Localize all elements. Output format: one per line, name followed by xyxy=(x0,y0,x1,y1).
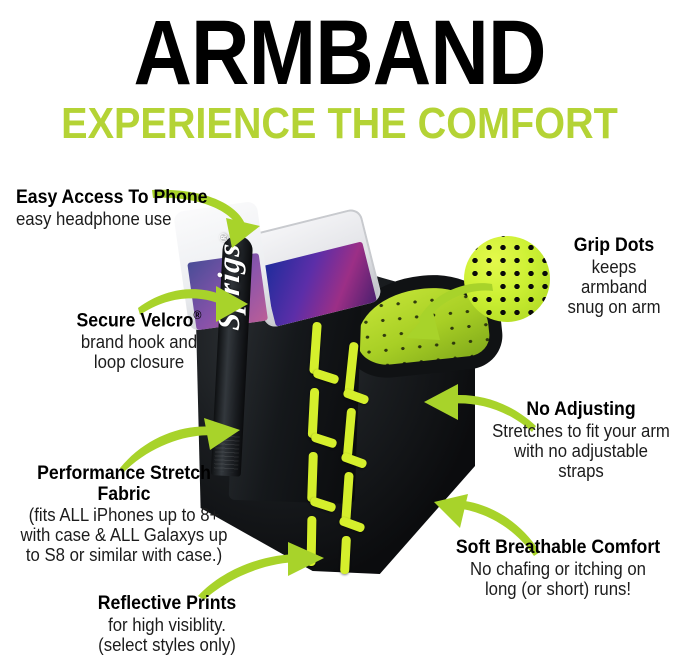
callout-body-line: with case & ALL Galaxys up xyxy=(9,525,240,545)
callout-no-adjusting: No Adjusting Stretches to fit your arm w… xyxy=(484,400,678,481)
page-subtitle: EXPERIENCE THE COMFORT xyxy=(34,102,645,146)
callout-body-line: loop closure xyxy=(56,352,222,372)
registered-trademark-icon: ® xyxy=(193,309,201,322)
registered-trademark-icon: ® xyxy=(217,231,231,243)
page-title: ARMBAND xyxy=(41,0,639,98)
callout-body-line: (fits ALL iPhones up to 8+ xyxy=(9,505,240,525)
callout-body-line: brand hook and xyxy=(56,332,222,352)
callout-body-line: to S8 or similar with case.) xyxy=(9,545,240,565)
callout-title: Performance Stretch Fabric xyxy=(9,464,240,505)
callout-body-line: snug on arm xyxy=(556,297,671,317)
grip-dots-swatch xyxy=(464,236,550,322)
callout-grip-dots: Grip Dots keeps armband snug on arm xyxy=(552,236,676,317)
callout-title: Easy Access To Phone xyxy=(16,188,230,209)
callout-soft-breathable-comfort: Soft Breathable Comfort No chafing or it… xyxy=(438,538,678,599)
callout-title: No Adjusting xyxy=(491,400,671,421)
callout-title: Secure Velcro® xyxy=(56,310,222,332)
callout-body-line: long (or short) runs! xyxy=(446,579,669,599)
callout-title-text: Secure Velcro xyxy=(77,310,194,331)
callout-body-line: keeps armband xyxy=(556,257,671,297)
reflective-prints-graphic xyxy=(303,318,395,570)
callout-body-line: Stretches to fit your arm xyxy=(491,421,671,441)
callout-body-line: easy headphone use xyxy=(16,209,230,229)
callout-secure-velcro: Secure Velcro® brand hook and loop closu… xyxy=(50,310,228,372)
callout-body-line: (select styles only) xyxy=(81,635,254,655)
callout-performance-stretch-fabric: Performance Stretch Fabric (fits ALL iPh… xyxy=(0,464,248,566)
callout-body-line: with no adjustable straps xyxy=(491,441,671,481)
callout-title: Soft Breathable Comfort xyxy=(446,538,669,559)
callout-easy-access-to-phone: Easy Access To Phone easy headphone use xyxy=(16,188,246,229)
header: ARMBAND EXPERIENCE THE COMFORT xyxy=(0,0,679,146)
callout-body-line: for high visiblity. xyxy=(81,615,254,635)
callout-body-line: No chafing or itching on xyxy=(446,559,669,579)
callout-title: Reflective Prints xyxy=(81,594,254,615)
infographic-page: ARMBAND EXPERIENCE THE COMFORT Sprigs® xyxy=(0,0,679,664)
callout-title: Grip Dots xyxy=(556,236,671,257)
callout-reflective-prints: Reflective Prints for high visiblity. (s… xyxy=(74,594,260,655)
